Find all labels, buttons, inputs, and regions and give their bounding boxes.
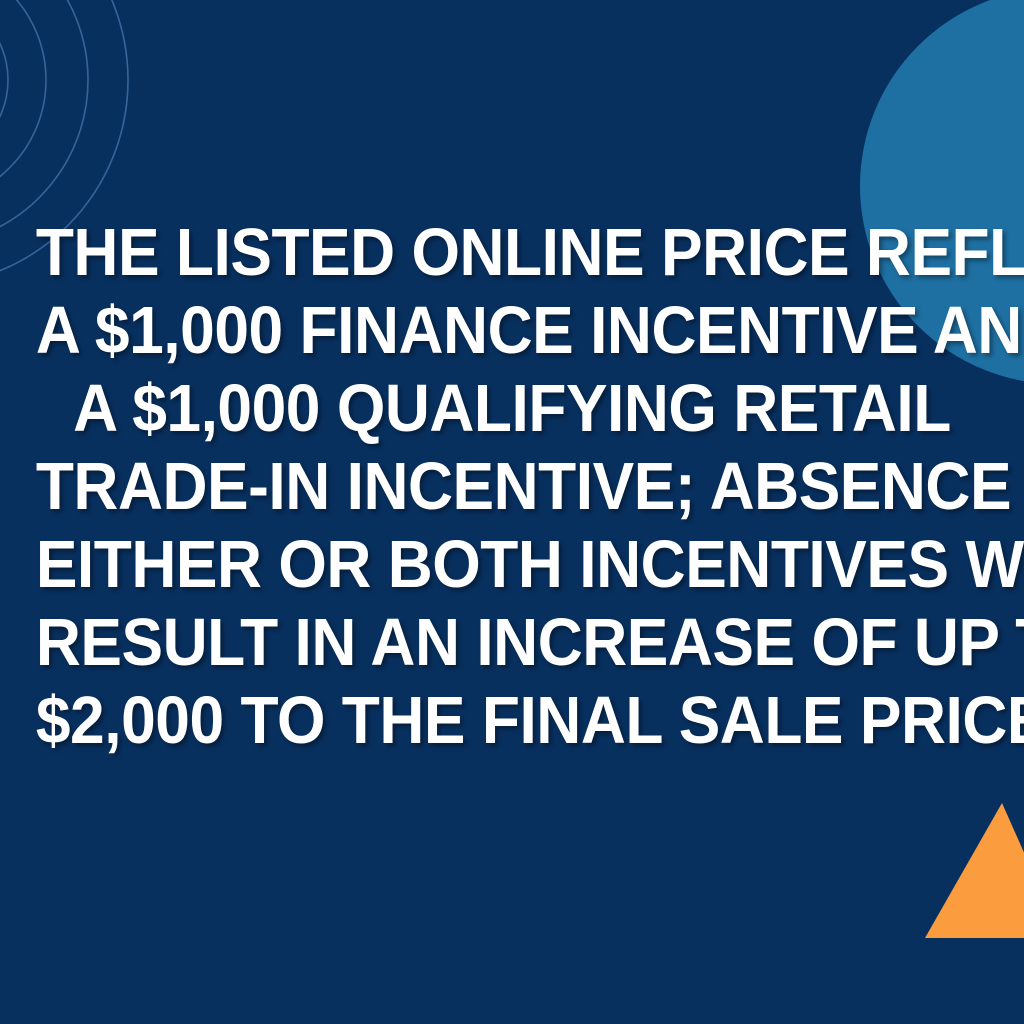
arc-ring-3 — [0, 0, 88, 246]
arc-ring-2 — [0, 0, 46, 204]
disclaimer-graphic: THE LISTED ONLINE PRICE REFLECTS A $1,00… — [0, 0, 1024, 1024]
disclaimer-line-7: $2,000 TO THE FINAL SALE PRICE. — [36, 682, 988, 760]
disclaimer-line-2: A $1,000 FINANCE INCENTIVE AND — [36, 292, 988, 370]
disclaimer-line-5: EITHER OR BOTH INCENTIVES WILL — [36, 526, 988, 604]
disclaimer-line-6: RESULT IN AN INCREASE OF UP TO — [36, 604, 988, 682]
disclaimer-text-block: THE LISTED ONLINE PRICE REFLECTS A $1,00… — [0, 214, 1024, 760]
disclaimer-line-1: THE LISTED ONLINE PRICE REFLECTS — [36, 214, 988, 292]
accent-triangle — [925, 803, 1024, 938]
disclaimer-line-4: TRADE-IN INCENTIVE; ABSENCE OF — [36, 448, 988, 526]
disclaimer-line-3: A $1,000 QUALIFYING RETAIL — [36, 370, 988, 448]
arc-ring-1 — [0, 0, 8, 166]
